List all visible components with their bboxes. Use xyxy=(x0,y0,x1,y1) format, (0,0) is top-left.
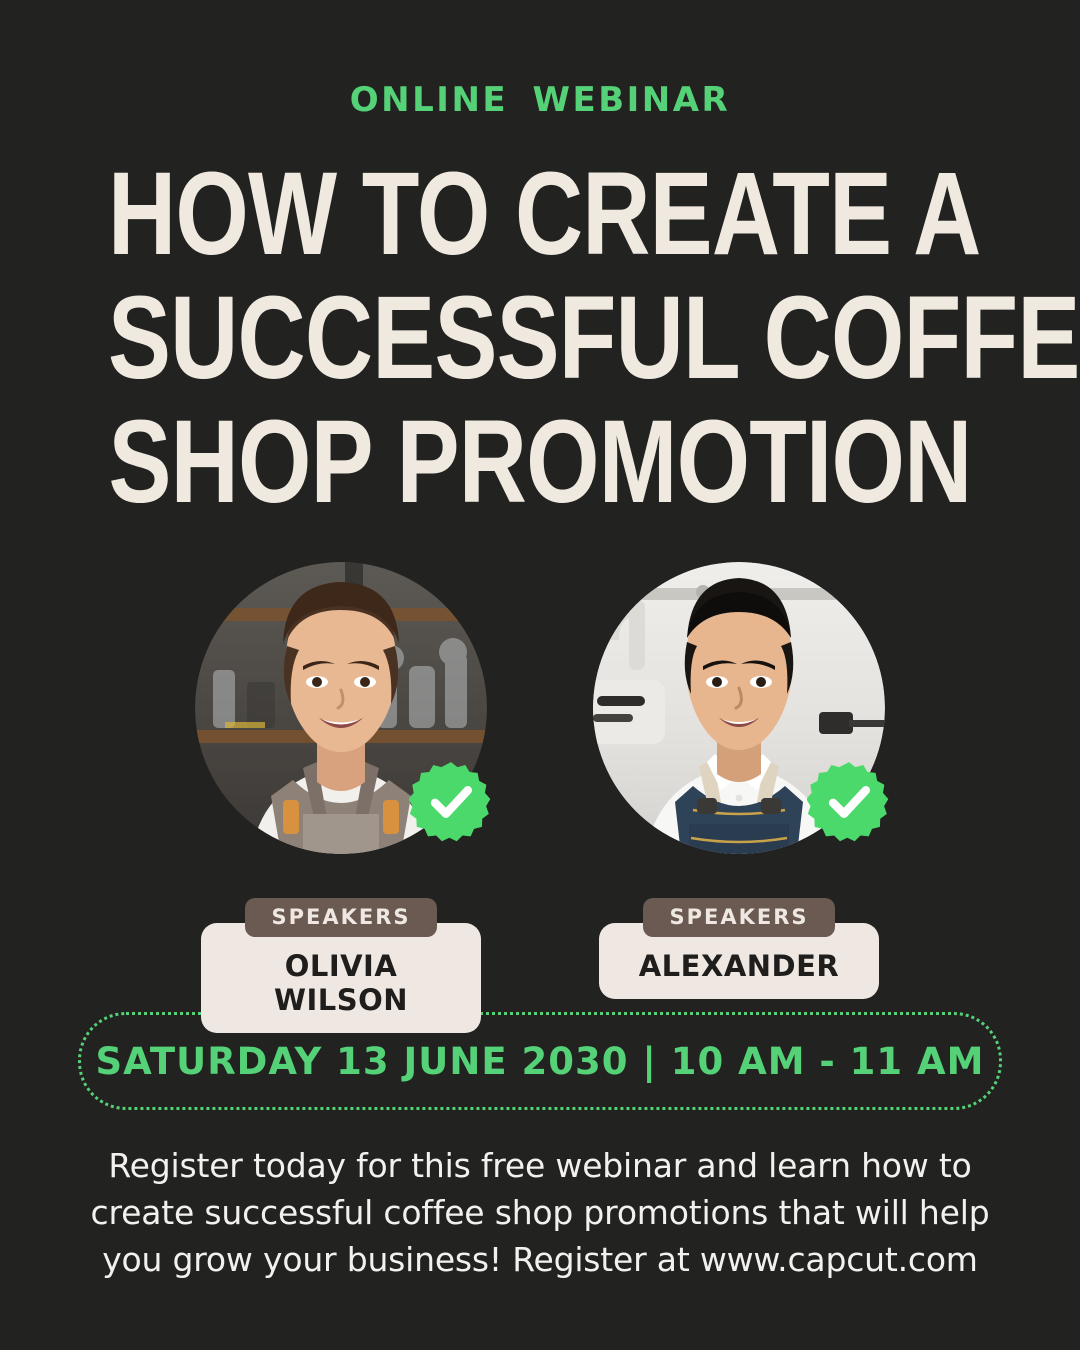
speaker-card: SPEAKERS ALEXANDER xyxy=(593,562,885,1033)
headline-line-3: SHOP PROMOTION xyxy=(108,400,972,524)
headline-line-1: HOW TO CREATE A xyxy=(108,152,972,276)
speaker-card: SPEAKERS OLIVIA WILSON xyxy=(195,562,487,1033)
avatar-wrapper xyxy=(593,562,885,854)
speaker-name: OLIVIA WILSON xyxy=(201,923,481,1033)
verified-check-icon xyxy=(409,760,493,844)
date-time-text: SATURDAY 13 JUNE 2030 | 10 AM - 11 AM xyxy=(96,1040,985,1083)
eyebrow-label: ONLINE WEBINAR xyxy=(0,80,1080,120)
speakers-tag: SPEAKERS xyxy=(643,898,834,937)
speakers-tag: SPEAKERS xyxy=(245,898,436,937)
speaker-name-block: SPEAKERS OLIVIA WILSON xyxy=(201,898,481,1033)
webinar-poster: ONLINE WEBINAR HOW TO CREATE A SUCCESSFU… xyxy=(0,0,1080,1350)
speakers-section: SPEAKERS OLIVIA WILSON xyxy=(0,562,1080,1033)
headline-line-2: SUCCESSFUL COFFEE xyxy=(108,276,972,400)
page-title: HOW TO CREATE A SUCCESSFUL COFFEE SHOP P… xyxy=(0,152,1080,524)
registration-description: Register today for this free webinar and… xyxy=(90,1142,990,1283)
avatar-wrapper xyxy=(195,562,487,854)
speaker-name-block: SPEAKERS ALEXANDER xyxy=(599,898,879,999)
verified-check-icon xyxy=(807,760,891,844)
